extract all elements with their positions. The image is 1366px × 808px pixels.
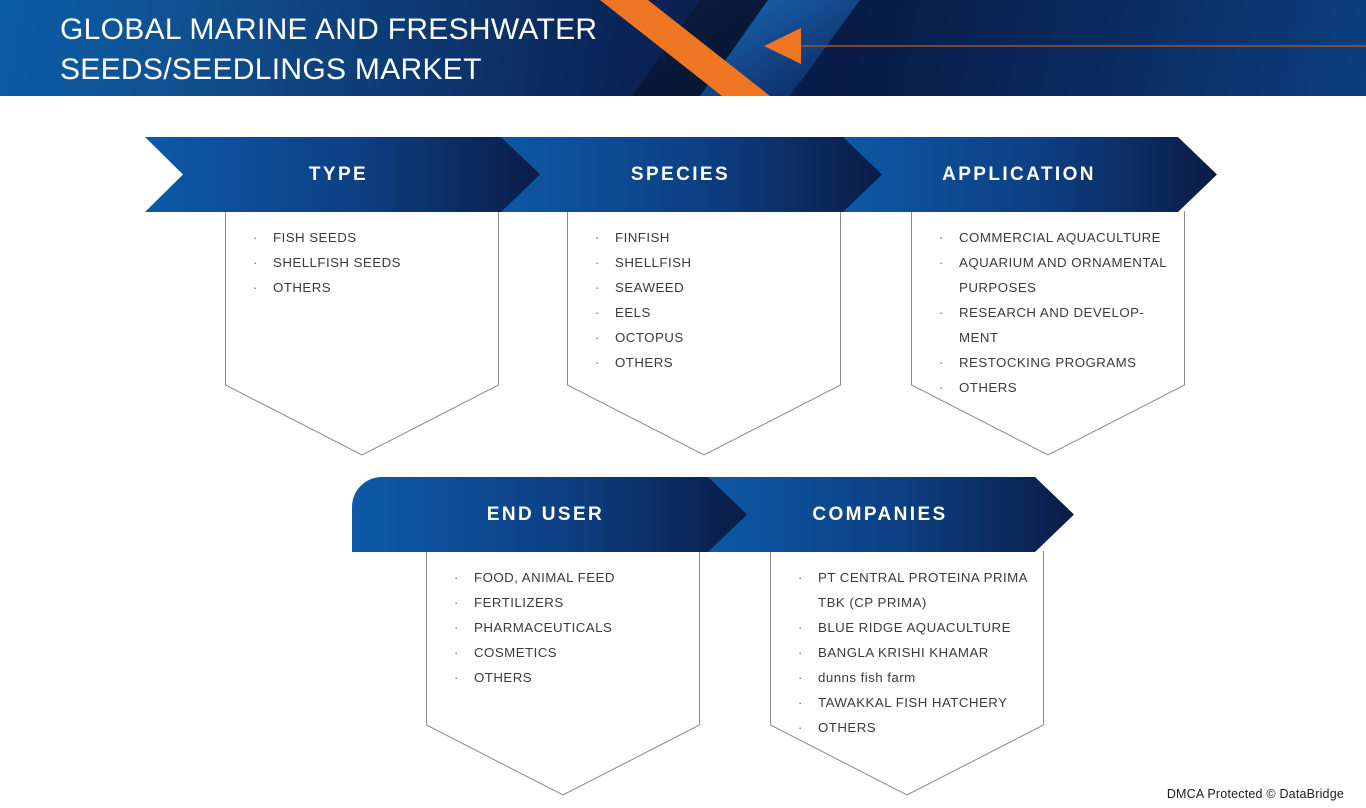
list-end-user: ·FOOD, ANIMAL FEED ·FERTILIZERS ·PHARMAC… [452,565,615,690]
bullet-icon: · [939,225,944,250]
list-item: ·AQUARIUM AND ORNAMENTAL PURPOSES [937,250,1167,300]
bullet-icon: · [253,225,258,250]
list-type: ·FISH SEEDS ·SHELLFISH SEEDS ·OTHERS [251,225,401,300]
list-item: ·SHELLFISH SEEDS [251,250,401,275]
list-item: ·PT CENTRAL PROTEINA PRIMA TBK (CP PRIMA… [796,565,1028,615]
footer-copyright: DMCA Protected © DataBridge [1167,787,1344,801]
list-item: ·PHARMACEUTICALS [452,615,615,640]
bullet-icon: · [798,640,803,665]
bullet-icon: · [939,375,944,400]
bullet-icon: · [798,665,803,690]
card-list-companies: ·PT CENTRAL PROTEINA PRIMA TBK (CP PRIMA… [770,551,1038,740]
list-application: ·COMMERCIAL AQUACULTURE ·AQUARIUM AND OR… [937,225,1167,400]
list-item: ·FERTILIZERS [452,590,615,615]
bullet-icon: · [798,615,803,640]
list-item: ·TAWAKKAL FISH HATCHERY [796,690,1028,715]
bullet-icon: · [253,275,258,300]
list-item: ·COMMERCIAL AQUACULTURE [937,225,1167,250]
bullet-icon: · [595,225,600,250]
list-item: ·OTHERS [796,715,1028,740]
banner-end-user[interactable]: END USER [352,477,747,552]
list-item: ·RESTOCKING PROGRAMS [937,350,1167,375]
list-item: ·SEAWEED [593,275,691,300]
bullet-icon: · [595,250,600,275]
list-item: ·FOOD, ANIMAL FEED [452,565,615,590]
list-item: ·OTHERS [593,350,691,375]
list-companies: ·PT CENTRAL PROTEINA PRIMA TBK (CP PRIMA… [796,565,1028,740]
banner-application[interactable]: APPLICATION [829,137,1217,212]
bullet-icon: · [798,690,803,715]
banner-species[interactable]: SPECIES [487,137,882,212]
list-item: ·SHELLFISH [593,250,691,275]
list-item: ·BANGLA KRISHI KHAMAR [796,640,1028,665]
bullet-icon: · [595,300,600,325]
list-item: ·dunns fish farm [796,665,1028,690]
card-list-species: ·FINFISH ·SHELLFISH ·SEAWEED ·EELS ·OCTO… [567,211,701,375]
bullet-icon: · [939,300,944,325]
bullet-icon: · [253,250,258,275]
infographic-page: GLOBAL MARINE AND FRESHWATER SEEDS/SEEDL… [0,0,1366,808]
bullet-icon: · [595,350,600,375]
banner-type[interactable]: TYPE [145,137,540,212]
bullet-icon: · [454,640,459,665]
card-list-application: ·COMMERCIAL AQUACULTURE ·AQUARIUM AND OR… [911,211,1177,400]
page-title: GLOBAL MARINE AND FRESHWATER SEEDS/SEEDL… [60,10,597,90]
bullet-icon: · [939,250,944,275]
bullet-icon: · [454,590,459,615]
list-item: ·OTHERS [452,665,615,690]
list-species: ·FINFISH ·SHELLFISH ·SEAWEED ·EELS ·OCTO… [593,225,691,375]
card-list-end-user: ·FOOD, ANIMAL FEED ·FERTILIZERS ·PHARMAC… [426,551,625,690]
bullet-icon: · [798,565,803,590]
bullet-icon: · [454,565,459,590]
list-item: ·OTHERS [937,375,1167,400]
list-item: ·FINFISH [593,225,691,250]
list-item: ·FISH SEEDS [251,225,401,250]
list-item: ·BLUE RIDGE AQUACULTURE [796,615,1028,640]
bullet-icon: · [595,275,600,300]
card-list-type: ·FISH SEEDS ·SHELLFISH SEEDS ·OTHERS [225,211,411,300]
list-item: ·RESEARCH AND DEVELOP- MENT [937,300,1167,350]
card-companies: ·PT CENTRAL PROTEINA PRIMA TBK (CP PRIMA… [770,551,1044,796]
bullet-icon: · [939,350,944,375]
bullet-icon: · [595,325,600,350]
list-item: ·COSMETICS [452,640,615,665]
card-end-user: ·FOOD, ANIMAL FEED ·FERTILIZERS ·PHARMAC… [426,551,700,796]
bullet-icon: · [454,665,459,690]
list-item: ·OCTOPUS [593,325,691,350]
card-application: ·COMMERCIAL AQUACULTURE ·AQUARIUM AND OR… [911,211,1185,456]
bullet-icon: · [454,615,459,640]
card-type: ·FISH SEEDS ·SHELLFISH SEEDS ·OTHERS [225,211,499,456]
page-header: GLOBAL MARINE AND FRESHWATER SEEDS/SEEDL… [0,0,1366,96]
bullet-icon: · [798,715,803,740]
banner-companies[interactable]: COMPANIES [694,477,1074,552]
card-species: ·FINFISH ·SHELLFISH ·SEAWEED ·EELS ·OCTO… [567,211,841,456]
list-item: ·EELS [593,300,691,325]
list-item: ·OTHERS [251,275,401,300]
